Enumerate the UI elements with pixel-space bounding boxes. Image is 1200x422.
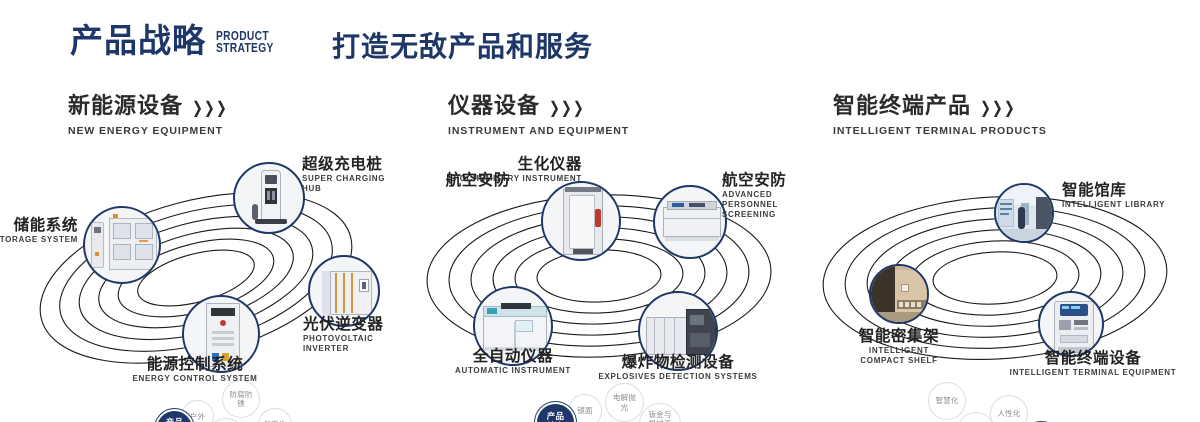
cluster-intelligent-terminal: 智慧化 数字化 人性化 产品 特点 [795, 150, 1195, 410]
caption-en: PHOTOVOLTAIC INVERTER [303, 334, 400, 354]
section-title-cn: 仪器设备 [448, 96, 540, 118]
screening-machine-art [655, 187, 725, 257]
charging-pile-art [235, 164, 303, 232]
caption-en: AUTOMATIC INSTRUMENT [423, 366, 603, 376]
node-biochemistry-instrument[interactable] [541, 181, 621, 261]
caption-energy-control: 能源控制系统 ENERGY CONTROL SYSTEM [90, 356, 300, 384]
badge-line1: 产品 [547, 413, 565, 422]
library-room-art [996, 185, 1052, 241]
caption-en: INTELLIGENT TERMINAL EQUIPMENT [991, 368, 1195, 378]
feature-bubble: 智慧化 [928, 382, 966, 420]
caption-cn: 储能系统 [0, 217, 78, 233]
brand-title-en: PRODUCT STRATEGY [216, 30, 274, 56]
caption-compact-shelf: 智能密集架 INTELLIGENT COMPACT SHELF [819, 328, 979, 366]
caption-cn: 智能密集架 [819, 328, 979, 344]
headline: 打造无敌产品和服务 [332, 33, 593, 61]
section-heading-new-energy: 新能源设备 ❯❯❯ NEW ENERGY EQUIPMENT [68, 96, 227, 137]
caption-cn: 全自动仪器 [423, 348, 603, 364]
brand-title-en-line1: PRODUCT [216, 30, 274, 43]
node-compact-shelf[interactable] [869, 264, 929, 324]
caption-en: ADVANCED PERSONNEL SCREENING [722, 190, 800, 220]
caption-cn: 生化仪器 [436, 156, 582, 172]
chevron-right-icon: ❯❯❯ [549, 101, 584, 114]
feature-bubble: 防腐防锈 [222, 380, 260, 418]
chevron-right-icon: ❯❯❯ [980, 101, 1015, 114]
cluster-instruments: 镜面 电解抛光 零缺陷 钣金与机械工结合 产品 特点 [400, 150, 800, 410]
node-charging-pile[interactable] [233, 162, 305, 234]
kiosk-terminal-art [1040, 293, 1102, 355]
chevron-right-icon: ❯❯❯ [192, 101, 227, 114]
caption-en: EXPLOSIVES DETECTION SYSTEMS [578, 372, 778, 382]
node-terminal-equipment[interactable] [1038, 291, 1104, 357]
battery-cabinet-art [85, 208, 159, 282]
feature-bubble-label: 智慧化 [935, 396, 958, 405]
caption-aviation-security-secondary: 航空安防 [360, 172, 510, 188]
caption-cn: 航空安防 [722, 172, 800, 188]
caption-explosives-detection: 爆炸物检测设备 EXPLOSIVES DETECTION SYSTEMS [578, 354, 778, 382]
caption-cn: 航空安防 [360, 172, 510, 188]
section-heading-instruments: 仪器设备 ❯❯❯ INSTRUMENT AND EQUIPMENT [448, 96, 629, 137]
security-gate-art [543, 183, 619, 259]
feature-bubble-label: 镜面 [577, 406, 592, 415]
caption-en: INTELLIGENT LIBRARY [1062, 200, 1165, 210]
section-title-en: NEW ENERGY EQUIPMENT [68, 125, 227, 137]
brand-title-en-line2: STRATEGY [216, 42, 274, 55]
feature-bubble: 气密性 [258, 408, 292, 422]
caption-personnel-screening: 航空安防 ADVANCED PERSONNEL SCREENING [722, 172, 800, 220]
section-title-en: INSTRUMENT AND EQUIPMENT [448, 125, 629, 137]
feature-bubble-label: 人性化 [997, 409, 1020, 418]
product-strategy-infographic: 产品战略 PRODUCT STRATEGY 打造无敌产品和服务 新能源设备 ❯❯… [0, 0, 1200, 422]
feature-bubble: 电解抛光 [605, 383, 644, 422]
feature-bubble-label: 电解抛光 [613, 393, 637, 412]
feature-bubble-label: 钣金与机械工结合 [645, 410, 675, 422]
section-heading-intelligent-terminal: 智能终端产品 ❯❯❯ INTELLIGENT TERMINAL PRODUCTS [833, 96, 1047, 137]
section-title-en: INTELLIGENT TERMINAL PRODUCTS [833, 125, 1047, 137]
caption-cn: 爆炸物检测设备 [578, 354, 778, 370]
node-personnel-screening[interactable] [653, 185, 727, 259]
node-energy-storage[interactable] [83, 206, 161, 284]
section-title-cn: 新能源设备 [68, 96, 183, 118]
cluster-new-energy: 户外 防腐防锈 防水防尘 气密性 产品 特点 [0, 150, 400, 410]
node-intelligent-library[interactable] [994, 183, 1054, 243]
caption-energy-storage: 储能系统 ENERGY STORAGE SYSTEM [0, 217, 78, 245]
feature-bubble-label: 防腐防锈 [229, 390, 253, 409]
caption-cn: 智能终端设备 [991, 350, 1195, 366]
compact-shelf-art [871, 266, 927, 322]
caption-en: ENERGY CONTROL SYSTEM [90, 374, 300, 384]
caption-terminal-equipment: 智能终端设备 INTELLIGENT TERMINAL EQUIPMENT [991, 350, 1195, 378]
caption-intelligent-library: 智能馆库 INTELLIGENT LIBRARY [1062, 182, 1165, 210]
caption-cn: 智能馆库 [1062, 182, 1165, 198]
caption-pv-inverter: 光伏逆变器 PHOTOVOLTAIC INVERTER [303, 316, 400, 354]
caption-cn: 超级充电桩 [302, 156, 400, 172]
caption-automatic-instrument: 全自动仪器 AUTOMATIC INSTRUMENT [423, 348, 603, 376]
caption-en: INTELLIGENT COMPACT SHELF [851, 346, 947, 366]
brand-title-cn: 产品战略 [70, 24, 206, 57]
caption-cn: 光伏逆变器 [303, 316, 400, 332]
brand-header: 产品战略 PRODUCT STRATEGY [70, 24, 286, 57]
section-title-cn: 智能终端产品 [833, 96, 971, 118]
caption-cn: 能源控制系统 [90, 356, 300, 372]
caption-en: ENERGY STORAGE SYSTEM [0, 235, 78, 245]
